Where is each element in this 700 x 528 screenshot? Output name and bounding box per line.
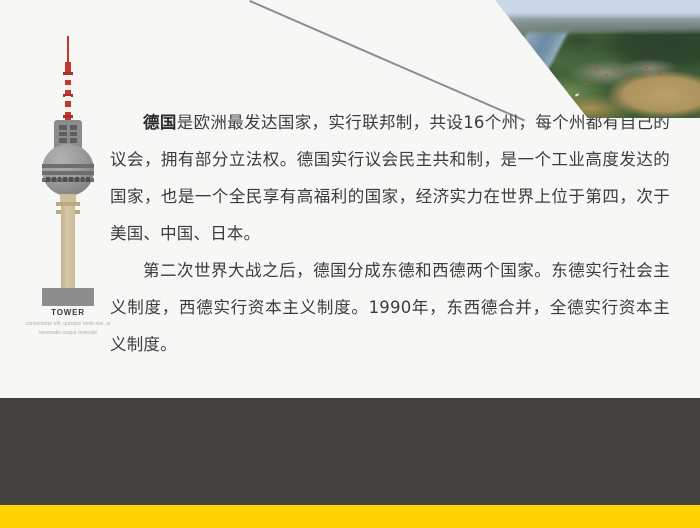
paragraph-1-lead: 德国 [143,113,177,132]
tower-cabin-window [70,125,78,130]
tower-sphere-window [86,177,90,182]
village-roof-marker [595,68,598,70]
tower-sphere-window [69,177,73,182]
tower-sphere-window [58,177,62,182]
tower-cabin-window [70,132,78,137]
river-boat-marker [575,94,579,98]
tower-sphere-band [42,171,94,175]
village-roof-marker [585,83,588,85]
tower-cabin-window [59,138,67,143]
paragraph-1: 德国是欧洲最发达国家，实行联邦制，共设16个州，每个州都有自己的议会，拥有部分立… [110,104,670,252]
tower-sphere-window [52,177,56,182]
tower-caption-title: TOWER [18,308,118,317]
tower-sphere-window [81,177,85,182]
paragraph-1-text: 是欧洲最发达国家，实行联邦制，共设16个州，每个州都有自己的议会，拥有部分立法权… [110,113,670,243]
body-copy: 德国是欧洲最发达国家，实行联邦制，共设16个州，每个州都有自己的议会，拥有部分立… [110,104,670,363]
tower-sphere-window [46,177,50,182]
tower-cabin-window [59,132,67,137]
village-roof-marker [605,74,608,76]
tower-antenna-band [63,72,73,75]
slide-canvas: TOWER consectetur elit, quisque mole nis… [0,0,700,528]
village-roof-marker [645,67,648,69]
photo-image [450,0,700,118]
tower-base [42,288,94,306]
tower-artwork [18,36,118,286]
tower-sphere-windows [46,177,90,182]
village-roof-marker [533,85,536,87]
footer-accent-bar [0,505,700,528]
tower-shaft [61,206,75,290]
paragraph-2: 第二次世界大战之后，德国分成东德和西德两个国家。东德实行社会主义制度，西德实行资… [110,252,670,363]
tower-caption-body: consectetur elit, quisque mole nisi, at … [18,320,118,337]
paragraph-2-text: 第二次世界大战之后，德国分成东德和西德两个国家。东德实行社会主义制度，西德实行资… [110,261,670,354]
tower-cabin-window [70,138,78,143]
tower-antenna-tip [67,36,69,62]
tower-sphere-window [75,177,79,182]
tower-sphere-window [63,177,67,182]
village-roof-marker [628,78,631,80]
photo-haze-overlay [450,0,700,35]
tower-sphere [42,144,94,196]
river-boat-marker [550,98,554,102]
footer-dark-bar [0,398,700,505]
village-roof-marker [615,71,618,73]
village-roof-marker [520,92,523,94]
tower-cabin-window [59,125,67,130]
berlin-tv-tower-illustration: TOWER consectetur elit, quisque mole nis… [18,36,118,336]
tower-antenna-band [63,115,73,118]
aerial-river-valley-photo [450,0,700,118]
village-roof-marker [658,73,661,75]
tower-sphere-band [42,164,94,168]
tower-caption: TOWER consectetur elit, quisque mole nis… [18,308,118,337]
